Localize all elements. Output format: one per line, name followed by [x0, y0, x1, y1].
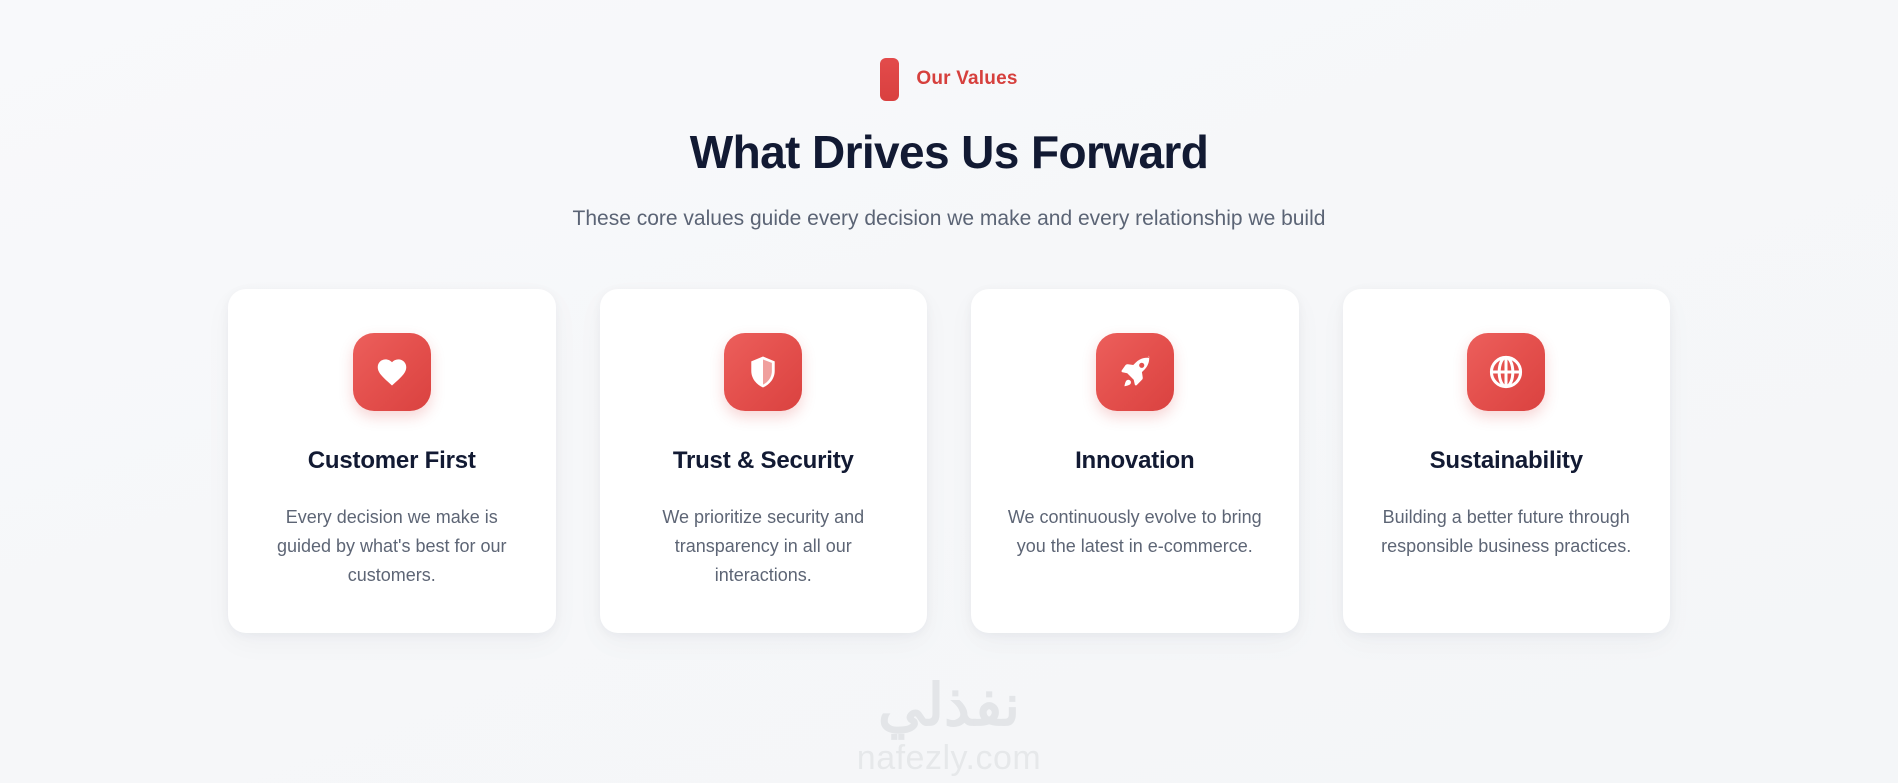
heart-icon: [353, 333, 431, 411]
value-card-sustainability[interactable]: Sustainability Building a better future …: [1343, 289, 1671, 633]
our-values-section: Our Values What Drives Us Forward These …: [0, 0, 1898, 783]
section-badge: Our Values: [0, 56, 1898, 102]
rocket-icon: [1096, 333, 1174, 411]
value-card-description: Every decision we make is guided by what…: [258, 503, 526, 590]
page-title: What Drives Us Forward: [0, 127, 1898, 179]
shield-icon: [724, 333, 802, 411]
watermark: نفذلي nafezly.com: [0, 677, 1898, 775]
value-card-title: Sustainability: [1373, 447, 1641, 475]
globe-icon: [1467, 333, 1545, 411]
value-card-title: Customer First: [258, 447, 526, 475]
value-card-trust-security[interactable]: Trust & Security We prioritize security …: [600, 289, 928, 633]
badge-accent-bar: [880, 58, 899, 101]
page-subtitle: These core values guide every decision w…: [0, 207, 1898, 231]
value-card-customer-first[interactable]: Customer First Every decision we make is…: [228, 289, 556, 633]
watermark-arabic-text: نفذلي: [0, 677, 1898, 735]
value-card-description: Building a better future through respons…: [1373, 503, 1641, 561]
value-card-description: We prioritize security and transparency …: [630, 503, 898, 590]
values-card-grid: Customer First Every decision we make is…: [228, 289, 1670, 633]
value-card-title: Trust & Security: [630, 447, 898, 475]
badge-label: Our Values: [916, 68, 1017, 90]
value-card-title: Innovation: [1001, 447, 1269, 475]
watermark-latin-text: nafezly.com: [0, 741, 1898, 775]
section-header: Our Values What Drives Us Forward These …: [0, 56, 1898, 231]
value-card-description: We continuously evolve to bring you the …: [1001, 503, 1269, 561]
value-card-innovation[interactable]: Innovation We continuously evolve to bri…: [971, 289, 1299, 633]
